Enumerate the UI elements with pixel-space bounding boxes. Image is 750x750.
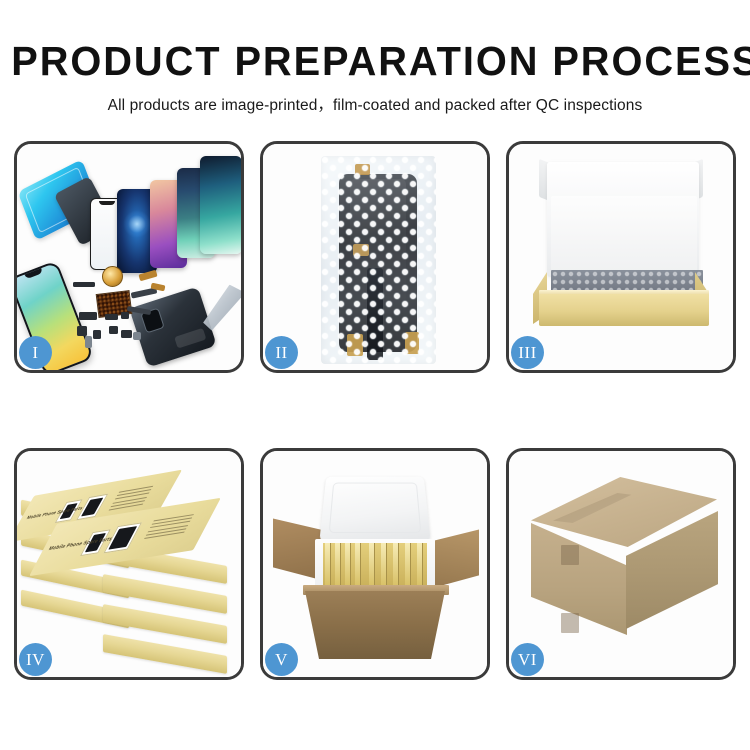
process-step-grid: I II: [14, 141, 736, 689]
carton-front-panel: [305, 591, 445, 659]
retail-boxes-inside: [323, 543, 427, 585]
bubble-texture-overlay: [321, 156, 436, 364]
process-step-2: II: [260, 141, 490, 373]
process-step-4: Mobile Phone Spare Parts Mobile Phone Sp…: [14, 448, 244, 680]
spare-part-strip-2: [79, 312, 97, 320]
header: PRODUCT PREPARATION PROCESS All products…: [0, 0, 750, 115]
spare-part-connector-2: [133, 332, 141, 340]
step-5-image: [263, 451, 487, 677]
process-step-1: I: [14, 141, 244, 373]
gold-coil-part: [102, 266, 123, 287]
process-step-5: V: [260, 448, 490, 680]
product-preparation-infographic: PRODUCT PREPARATION PROCESS All products…: [0, 0, 750, 750]
spare-part-chip-2: [93, 330, 101, 339]
carton-tab-upper: [561, 545, 579, 565]
carton-tab-lower: [561, 613, 579, 633]
phone-teal-display-2: [200, 156, 241, 254]
step-badge-5: V: [265, 643, 298, 676]
spare-part-connector-1: [85, 336, 92, 348]
foam-case-lid: [319, 477, 430, 542]
page-subtitle: All products are image-printed，film-coat…: [0, 93, 750, 115]
spare-part-chip-4: [121, 330, 132, 338]
phone-rear-housing: [129, 286, 217, 367]
step-1-image: [17, 144, 241, 370]
box-front-panel: [539, 294, 709, 326]
carton-flap-right: [429, 527, 479, 589]
box-brand-label-front: Mobile Phone Spare Parts: [47, 537, 113, 552]
page-title: PRODUCT PREPARATION PROCESS: [11, 40, 739, 83]
spare-part-strip-1: [73, 282, 95, 287]
box-text-lines-front: [143, 514, 194, 541]
step-4-image: Mobile Phone Spare Parts Mobile Phone Sp…: [17, 451, 241, 677]
spare-part-chip-1: [77, 326, 87, 336]
foam-sheet: [551, 196, 697, 272]
spare-part-chip-6: [121, 312, 129, 319]
step-2-image: [263, 144, 487, 370]
spare-part-chip-5: [105, 314, 118, 320]
process-step-3: III: [506, 141, 736, 373]
step-badge-2: II: [265, 336, 298, 369]
step-3-image: [509, 144, 733, 370]
step-6-image: [509, 451, 733, 677]
bubble-wrap-bag: [321, 156, 436, 364]
process-step-6: VI: [506, 448, 736, 680]
step-badge-1: I: [19, 336, 52, 369]
box-brand-label-back: Mobile Phone Spare Parts: [26, 505, 84, 520]
step-badge-4: IV: [19, 643, 52, 676]
step-badge-3: III: [511, 336, 544, 369]
spare-part-chip-3: [109, 326, 118, 334]
step-badge-6: VI: [511, 643, 544, 676]
